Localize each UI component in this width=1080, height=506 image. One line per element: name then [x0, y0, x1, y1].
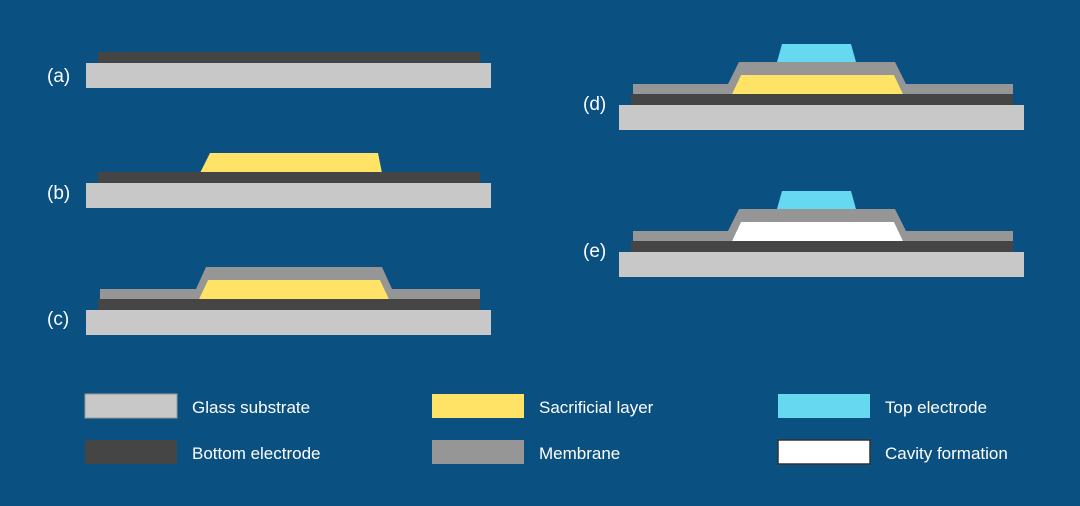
panel-d-top-electrode — [777, 44, 856, 62]
panel-c-sacrificial-layer — [199, 280, 389, 299]
legend-label-sacrificial-layer: Sacrificial layer — [539, 398, 654, 417]
panel-e-bottom-electrode — [631, 241, 1013, 252]
fabrication-process-diagram: (a) (b) (c) (d) — [0, 0, 1080, 506]
process-diagram-svg: (a) (b) (c) (d) — [0, 0, 1080, 506]
panel-e-label: (e) — [583, 241, 606, 262]
legend-label-bottom-electrode: Bottom electrode — [192, 444, 321, 463]
panel-a-label: (a) — [47, 66, 70, 87]
legend-swatch-cavity-formation — [778, 440, 870, 464]
panel-b-label: (b) — [47, 183, 70, 204]
panel-d-sacrificial-layer — [732, 75, 903, 94]
legend-item-cavity-formation: Cavity formation — [778, 440, 1008, 464]
panel-e-cavity — [732, 222, 903, 241]
panel-a-bottom-electrode — [98, 52, 480, 63]
panel-b-bottom-electrode — [98, 172, 480, 183]
legend-swatch-sacrificial-layer — [432, 394, 524, 418]
legend-item-glass-substrate: Glass substrate — [85, 394, 310, 418]
panel-e-glass-substrate — [619, 252, 1024, 277]
legend-swatch-glass-substrate — [85, 394, 177, 418]
panel-b-sacrificial-layer — [200, 153, 382, 173]
panel-e-top-electrode — [777, 191, 856, 209]
panel-d-label: (d) — [583, 94, 606, 115]
panel-c-glass-substrate — [86, 310, 491, 335]
panel-a-glass-substrate — [86, 63, 491, 88]
panel-d-bottom-electrode — [631, 94, 1013, 105]
legend-item-bottom-electrode: Bottom electrode — [85, 440, 321, 464]
panel-c-label: (c) — [47, 309, 69, 330]
legend-swatch-top-electrode — [778, 394, 870, 418]
legend-label-cavity-formation: Cavity formation — [885, 444, 1008, 463]
panel-a: (a) — [47, 52, 491, 88]
panel-d-glass-substrate — [619, 105, 1024, 130]
panel-c-bottom-electrode — [98, 299, 480, 310]
legend-item-sacrificial-layer: Sacrificial layer — [432, 394, 654, 418]
legend-label-top-electrode: Top electrode — [885, 398, 987, 417]
legend-swatch-membrane — [432, 440, 524, 464]
panel-b-glass-substrate — [86, 183, 491, 208]
legend-swatch-bottom-electrode — [85, 440, 177, 464]
legend-label-glass-substrate: Glass substrate — [192, 398, 310, 417]
legend-label-membrane: Membrane — [539, 444, 620, 463]
